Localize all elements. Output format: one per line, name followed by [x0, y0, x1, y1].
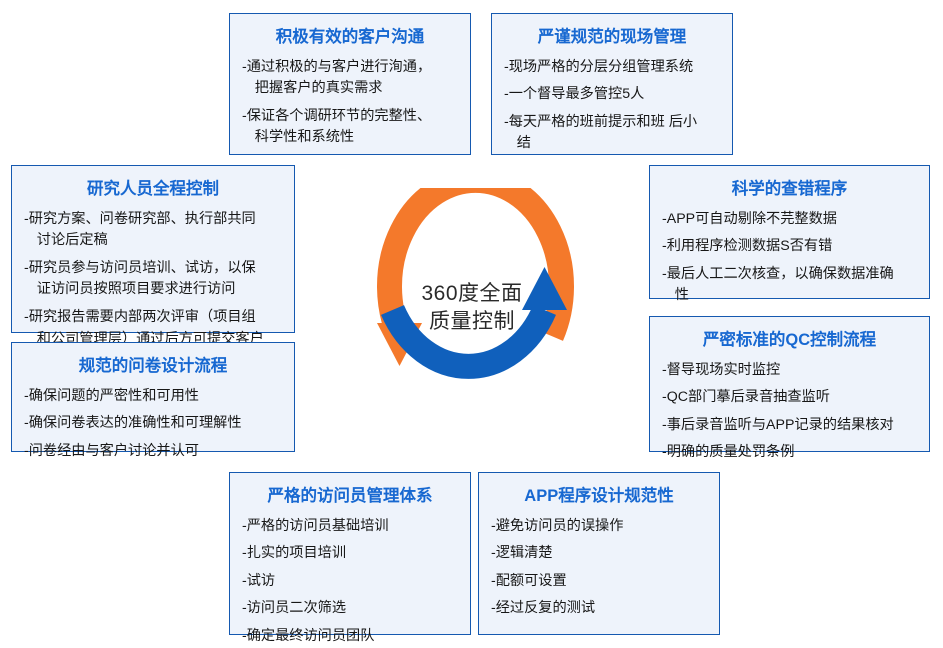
- list-item: -一个督导最多管控5人: [504, 84, 722, 106]
- card-title: 严格的访问员管理体系: [230, 473, 470, 516]
- diagram-canvas: 积极有效的客户沟通 -通过积极的与客户进行洵通， 把握客户的真实需求 -保证各个…: [0, 0, 943, 638]
- card-bullet-list: -研究方案、问卷研究部、执行部共同 讨论后定稿 -研究员参与访问员培训、试访，以…: [12, 209, 294, 350]
- card-field-management[interactable]: 严谨规范的现场管理 -现场严格的分层分组管理系统 -一个督导最多管控5人 -每天…: [491, 13, 733, 155]
- card-app-design[interactable]: APP程序设计规范性 -避免访问员的误操作 -逻辑清楚 -配额可设置 -经过反复…: [478, 472, 720, 635]
- card-title: 严密标准的QC控制流程: [650, 317, 929, 360]
- card-bullet-list: -确保问题的严密性和可用性 -确保问卷表达的准确性和可理解性 -问卷经由与客户讨…: [12, 386, 294, 463]
- card-customer-communication[interactable]: 积极有效的客户沟通 -通过积极的与客户进行洵通， 把握客户的真实需求 -保证各个…: [229, 13, 471, 155]
- card-bullet-list: -避免访问员的误操作 -逻辑清楚 -配额可设置 -经过反复的测试: [479, 516, 719, 620]
- card-bullet-list: -严格的访问员基础培训 -扎实的项目培训 -试访 -访问员二次筛选 -确定最终访…: [230, 516, 470, 648]
- list-item: -督导现场实时监控: [662, 360, 919, 382]
- list-item: -APP可自动剔除不芫整数据: [662, 209, 919, 231]
- list-item: -确保问题的严密性和可用性: [24, 386, 284, 408]
- list-item: -严格的访问员基础培训: [242, 516, 460, 538]
- list-item: -研究员参与访问员培训、试访，以保 证访问员按照项目要求进行访问: [24, 258, 284, 301]
- list-item: -确定最终访问员团队: [242, 626, 460, 648]
- card-title: 规范的问卷设计流程: [12, 343, 294, 386]
- list-item: -保证各个调研环节的完整性、 科学性和系统性: [242, 106, 460, 149]
- list-item: -现场严格的分层分组管理系统: [504, 57, 722, 79]
- card-questionnaire-design[interactable]: 规范的问卷设计流程 -确保问题的严密性和可用性 -确保问卷表达的准确性和可理解性…: [11, 342, 295, 452]
- list-item: -确保问卷表达的准确性和可理解性: [24, 413, 284, 435]
- card-title: APP程序设计规范性: [479, 473, 719, 516]
- list-item: -避免访问员的误操作: [491, 516, 709, 538]
- list-item: -通过积极的与客户进行洵通， 把握客户的真实需求: [242, 57, 460, 100]
- list-item: -配额可设置: [491, 571, 709, 593]
- center-label-line2: 质量控制: [352, 308, 592, 336]
- card-qc-process[interactable]: 严密标准的QC控制流程 -督导现场实时监控 -QC部门摹后录音抽查监听 -事后录…: [649, 316, 930, 452]
- card-bullet-list: -现场严格的分层分组管理系统 -一个督导最多管控5人 -每天严格的班前提示和班 …: [492, 57, 732, 155]
- list-item: -事后录音监听与APP记录的结果核对: [662, 415, 919, 437]
- card-title: 严谨规范的现场管理: [492, 14, 732, 57]
- card-title: 研究人员全程控制: [12, 166, 294, 209]
- list-item: -逻辑清楚: [491, 543, 709, 565]
- center-label: 360度全面 质量控制: [352, 280, 592, 337]
- list-item: -研究方案、问卷研究部、执行部共同 讨论后定稿: [24, 209, 284, 252]
- list-item: -每天严格的班前提示和班 后小 结: [504, 112, 722, 155]
- center-label-line1: 360度全面: [421, 282, 522, 305]
- card-error-checking[interactable]: 科学的查错程序 -APP可自动剔除不芫整数据 -利用程序检测数据S否有错 -最后…: [649, 165, 930, 299]
- list-item: -扎实的项目培训: [242, 543, 460, 565]
- card-title: 积极有效的客户沟通: [230, 14, 470, 57]
- list-item: -明确的质量处罚条例: [662, 442, 919, 464]
- card-interviewer-management[interactable]: 严格的访问员管理体系 -严格的访问员基础培训 -扎实的项目培训 -试访 -访问员…: [229, 472, 471, 635]
- card-bullet-list: -督导现场实时监控 -QC部门摹后录音抽查监听 -事后录音监听与APP记录的结果…: [650, 360, 929, 464]
- list-item: -最后人工二次核查，以确保数据准确 性: [662, 264, 919, 307]
- central-cycle-graphic: 360度全面 质量控制: [352, 188, 592, 438]
- list-item: -访问员二次筛选: [242, 598, 460, 620]
- card-title: 科学的查错程序: [650, 166, 929, 209]
- list-item: -试访: [242, 571, 460, 593]
- list-item: -经过反复的测试: [491, 598, 709, 620]
- card-researcher-control[interactable]: 研究人员全程控制 -研究方案、问卷研究部、执行部共同 讨论后定稿 -研究员参与访…: [11, 165, 295, 333]
- card-bullet-list: -APP可自动剔除不芫整数据 -利用程序检测数据S否有错 -最后人工二次核查，以…: [650, 209, 929, 307]
- list-item: -问卷经由与客户讨论并认可: [24, 441, 284, 463]
- list-item: -利用程序检测数据S否有错: [662, 236, 919, 258]
- list-item: -QC部门摹后录音抽查监听: [662, 387, 919, 409]
- card-bullet-list: -通过积极的与客户进行洵通， 把握客户的真实需求 -保证各个调研环节的完整性、 …: [230, 57, 470, 149]
